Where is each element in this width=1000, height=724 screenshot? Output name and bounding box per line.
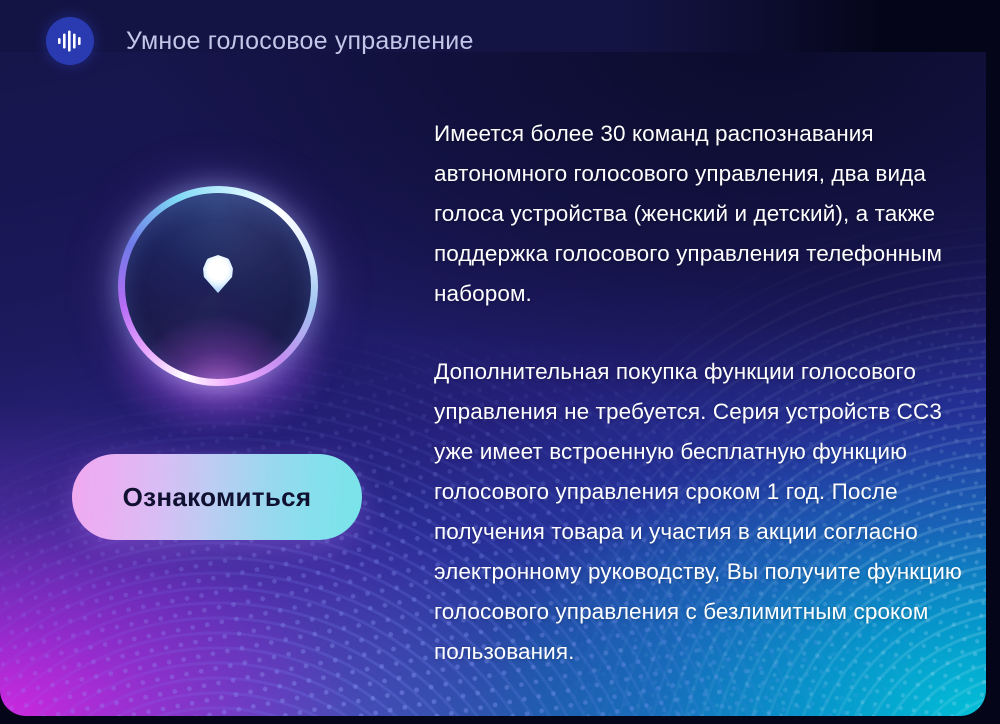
- description-block: Имеется более 30 команд распознавания ав…: [434, 114, 964, 672]
- explore-button[interactable]: Ознакомиться: [72, 454, 362, 540]
- description-paragraph-1: Имеется более 30 команд распознавания ав…: [434, 114, 964, 314]
- voice-waveform-icon: [46, 17, 94, 65]
- promo-stage: Умное голосовое управление Ознакомиться …: [0, 0, 1000, 724]
- header-bar: Умное голосовое управление: [0, 0, 474, 82]
- page-title: Умное голосовое управление: [126, 27, 474, 56]
- description-paragraph-2: Дополнительная покупка функции голосовог…: [434, 352, 964, 672]
- glowing-orb-droplet-icon: [118, 186, 318, 386]
